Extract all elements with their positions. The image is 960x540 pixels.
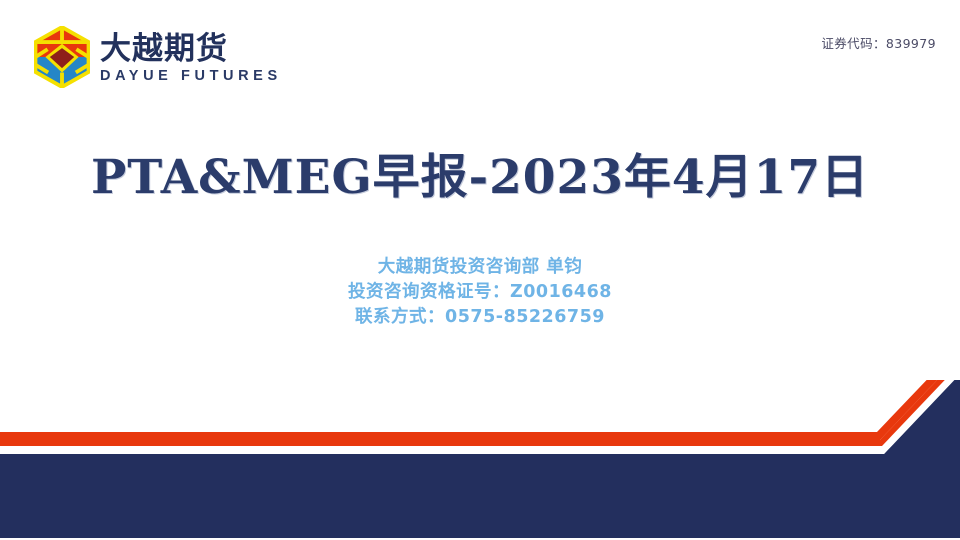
hexagon-cube-logo-icon [34,26,90,88]
brand-name-en: DAYUE FUTURES [100,69,282,84]
subtitle-line-contact: 联系方式：0575-85226759 [0,305,960,330]
brand-logo: 大越期货 DAYUE FUTURES [34,26,282,88]
brand-name-cn: 大越期货 [100,33,282,66]
title-slide: 大越期货 DAYUE FUTURES 证券代码：839979 PTA&MEG早报… [0,0,960,540]
footer-decoration [0,380,960,540]
brand-wordmark: 大越期货 DAYUE FUTURES [100,33,282,83]
subtitle-block: 大越期货投资咨询部 单钧 投资咨询资格证号：Z0016468 联系方式：0575… [0,255,960,330]
footer-orange-stripe-body [0,380,960,440]
subtitle-line-license: 投资咨询资格证号：Z0016468 [0,280,960,305]
footer-navy-shape [0,380,960,538]
subtitle-line-department: 大越期货投资咨询部 单钧 [0,255,960,280]
page-title: PTA&MEG早报-2023年4月17日 [0,138,960,207]
stock-code-label: 证券代码：839979 [821,33,936,52]
